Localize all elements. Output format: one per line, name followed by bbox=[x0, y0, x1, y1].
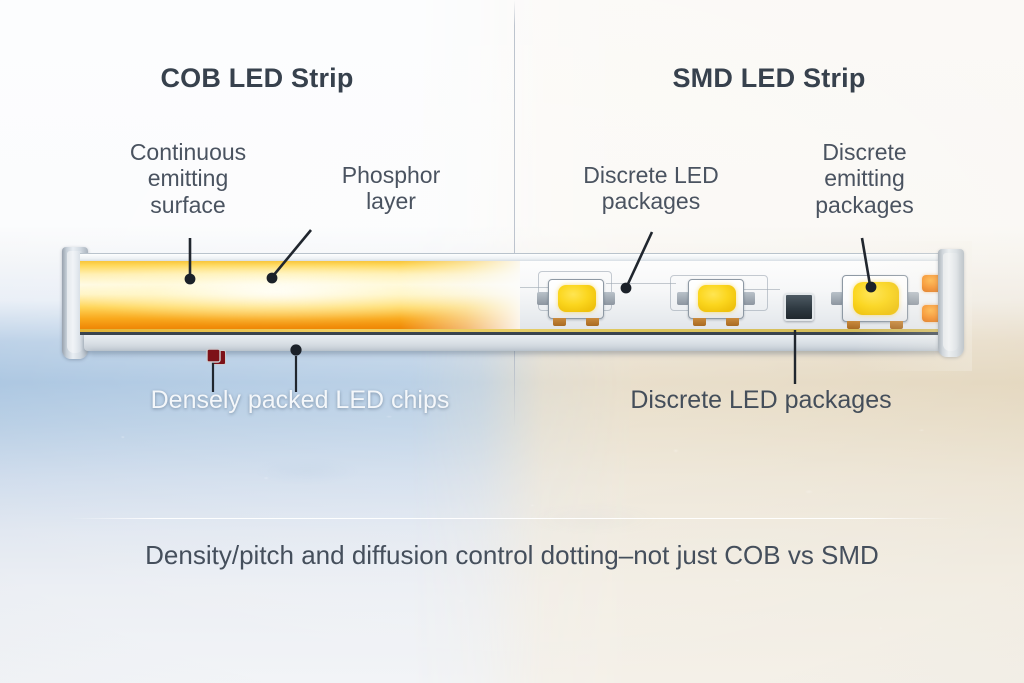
infographic-canvas: COB LED Strip SMD LED Strip Continuous e… bbox=[0, 0, 1024, 683]
callout-discrete-led-packages: Discrete LED packages bbox=[545, 162, 757, 215]
callout-densely-packed-led-chips: Densely packed LED chips bbox=[118, 386, 482, 415]
callout-discrete-emitting-packages: Discrete emitting packages bbox=[772, 139, 957, 218]
smd-body bbox=[548, 279, 604, 319]
pcb-trace bbox=[606, 283, 676, 284]
smd-led-package bbox=[688, 279, 744, 319]
footer-caption: Density/pitch and diffusion control dott… bbox=[0, 540, 1024, 571]
callout-phosphor-layer: Phosphor layer bbox=[305, 162, 477, 215]
led-chip-marker bbox=[211, 350, 226, 365]
cob-emitting-zone bbox=[80, 261, 520, 335]
smd-lead bbox=[693, 318, 706, 326]
smd-lead bbox=[586, 318, 599, 326]
smd-led-package bbox=[548, 279, 604, 319]
smd-pad-right bbox=[907, 292, 919, 305]
smd-phosphor-window bbox=[558, 285, 596, 312]
smd-leads bbox=[693, 318, 739, 326]
smd-pad-right bbox=[603, 292, 615, 305]
smd-phosphor-window bbox=[698, 285, 736, 312]
page-title-smd: SMD LED Strip bbox=[514, 63, 1024, 94]
led-strip-illustration bbox=[62, 247, 964, 372]
callout-discrete-led-packages-bottom: Discrete LED packages bbox=[596, 386, 926, 415]
smd-lead bbox=[847, 321, 860, 329]
smd-pad-right bbox=[743, 292, 755, 305]
smd-body bbox=[688, 279, 744, 319]
endcap-inner-right bbox=[943, 253, 959, 351]
page-title-cob: COB LED Strip bbox=[0, 63, 514, 94]
horizontal-divider bbox=[70, 518, 954, 519]
chip-resistor-component bbox=[784, 293, 814, 321]
smd-leads bbox=[847, 321, 903, 329]
smd-body bbox=[842, 275, 908, 322]
smd-lead bbox=[553, 318, 566, 326]
channel-base bbox=[84, 335, 944, 351]
smd-led-package bbox=[842, 275, 908, 322]
channel-endcap-right bbox=[938, 249, 964, 357]
callout-continuous-emitting-surface: Continuous emitting surface bbox=[88, 139, 288, 218]
cob-fade-out bbox=[400, 261, 520, 335]
smd-leads bbox=[553, 318, 599, 326]
smd-lead bbox=[726, 318, 739, 326]
smd-pcb-zone bbox=[520, 261, 946, 335]
smd-phosphor-window bbox=[853, 282, 899, 315]
smd-lead bbox=[890, 321, 903, 329]
